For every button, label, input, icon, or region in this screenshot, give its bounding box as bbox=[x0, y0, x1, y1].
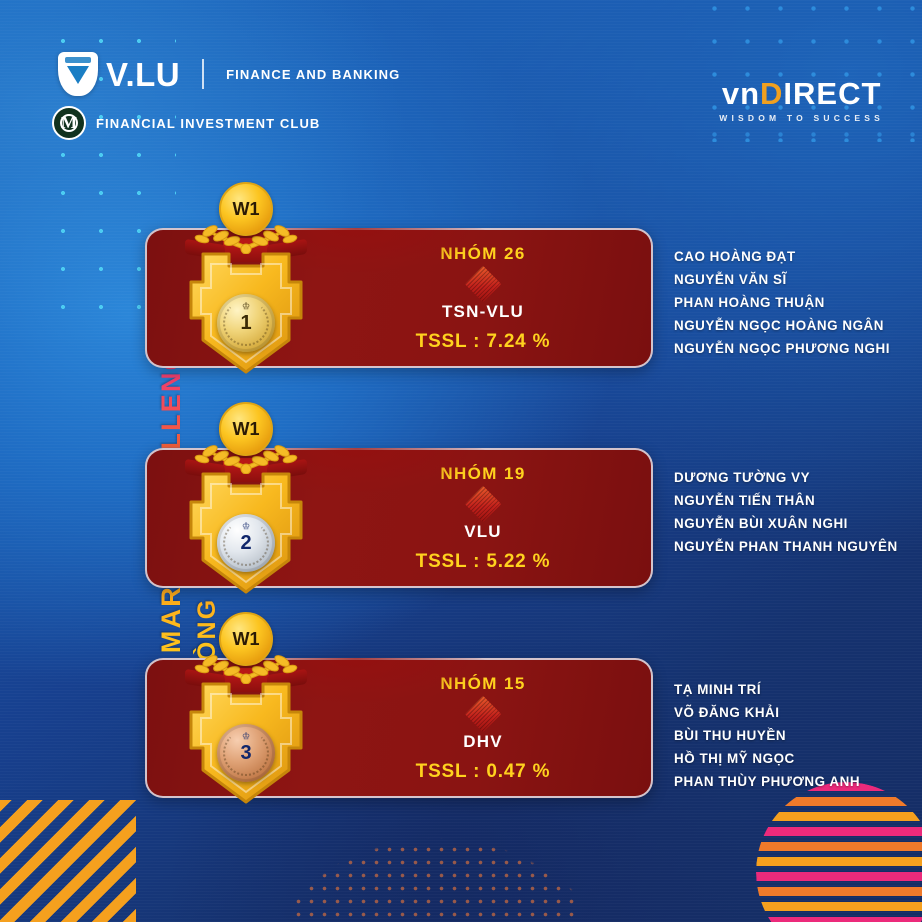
w1-coin-icon: W1 bbox=[219, 402, 273, 456]
disc-wreath-icon bbox=[223, 300, 269, 346]
vndirect-accent-letter: D bbox=[760, 76, 783, 111]
diamond-separator-icon bbox=[465, 696, 502, 733]
member-list-1: CAO HOÀNG ĐẠT NGUYỄN VĂN SĨ PHAN HOÀNG T… bbox=[674, 245, 922, 360]
vndirect-prefix: vn bbox=[722, 76, 760, 111]
list-item: PHAN HOÀNG THUẬN bbox=[674, 291, 922, 314]
list-item: NGUYỄN NGỌC HOÀNG NGÂN bbox=[674, 314, 922, 337]
w1-coin-icon: W1 bbox=[219, 612, 273, 666]
list-item: NGUYỄN PHAN THANH NGUYÊN bbox=[674, 535, 922, 558]
card-content: NHÓM 15 DHV TSSL : 0.47 % bbox=[327, 674, 639, 786]
rank-disc: ♔ 2 bbox=[217, 514, 275, 572]
medal-badge: W1 bbox=[171, 182, 321, 382]
page-header: V.LU FINANCE AND BANKING FINANCIAL INVES… bbox=[0, 0, 922, 150]
header-divider bbox=[202, 59, 204, 89]
vndirect-suffix: IRECT bbox=[783, 76, 881, 111]
fic-logo-icon bbox=[52, 106, 86, 140]
group-label: NHÓM 19 bbox=[440, 464, 525, 484]
vndirect-tagline: WISDOM TO SUCCESS bbox=[719, 113, 884, 123]
list-item: TẠ MINH TRÍ bbox=[674, 678, 922, 701]
card-panel: NHÓM 19 VLU TSSL : 5.22 % W1 bbox=[145, 448, 653, 588]
vlu-wordmark: V.LU bbox=[106, 58, 180, 91]
list-item: DƯƠNG TƯỜNG VY bbox=[674, 466, 922, 489]
list-item: NGUYỄN BÙI XUÂN NGHI bbox=[674, 512, 922, 535]
list-item: PHAN THÙY PHƯƠNG ANH bbox=[674, 770, 922, 793]
w1-coin-icon: W1 bbox=[219, 182, 273, 236]
diamond-separator-icon bbox=[465, 266, 502, 303]
medal-badge: W1 bbox=[171, 612, 321, 812]
fic-brand: FINANCIAL INVESTMENT CLUB bbox=[52, 106, 320, 140]
tssl-value: TSSL : 0.47 % bbox=[416, 761, 551, 783]
list-item: NGUYỄN VĂN SĨ bbox=[674, 268, 922, 291]
member-list-2: DƯƠNG TƯỜNG VY NGUYỄN TIẾN THÂN NGUYỄN B… bbox=[674, 466, 922, 558]
list-item: HỒ THỊ MỸ NGỌC bbox=[674, 747, 922, 770]
team-name: VLU bbox=[464, 522, 502, 542]
ranking-card-1[interactable]: NHÓM 26 TSN-VLU TSSL : 7.24 % W1 bbox=[145, 228, 653, 368]
vndirect-logo: vnDIRECT WISDOM TO SUCCESS bbox=[719, 78, 884, 123]
team-name: TSN-VLU bbox=[442, 302, 524, 322]
card-panel: NHÓM 26 TSN-VLU TSSL : 7.24 % W1 bbox=[145, 228, 653, 368]
list-item: VÕ ĐĂNG KHẢI bbox=[674, 701, 922, 724]
vndirect-wordmark: vnDIRECT bbox=[719, 78, 884, 109]
list-item: NGUYỄN TIẾN THÂN bbox=[674, 489, 922, 512]
diagonal-stripes-bottom-left-icon bbox=[0, 800, 136, 922]
ranking-card-3[interactable]: NHÓM 15 DHV TSSL : 0.47 % W1 bbox=[145, 658, 653, 798]
diamond-separator-icon bbox=[465, 486, 502, 523]
medal-badge: W1 bbox=[171, 402, 321, 602]
ranking-card-2[interactable]: NHÓM 19 VLU TSSL : 5.22 % W1 bbox=[145, 448, 653, 588]
list-item: CAO HOÀNG ĐẠT bbox=[674, 245, 922, 268]
faculty-label: FINANCE AND BANKING bbox=[226, 67, 400, 82]
vlu-brand: V.LU FINANCE AND BANKING bbox=[58, 52, 400, 96]
rank-disc: ♔ 3 bbox=[217, 724, 275, 782]
card-panel: NHÓM 15 DHV TSSL : 0.47 % W1 bbox=[145, 658, 653, 798]
tssl-value: TSSL : 5.22 % bbox=[416, 551, 551, 573]
club-label: FINANCIAL INVESTMENT CLUB bbox=[96, 116, 320, 131]
group-label: NHÓM 26 bbox=[440, 244, 525, 264]
card-content: NHÓM 26 TSN-VLU TSSL : 7.24 % bbox=[327, 244, 639, 356]
rank-disc: ♔ 1 bbox=[217, 294, 275, 352]
vlu-v-mark-icon bbox=[67, 66, 89, 84]
tssl-value: TSSL : 7.24 % bbox=[416, 331, 551, 353]
vlu-shield-icon bbox=[58, 52, 98, 96]
disc-wreath-icon bbox=[223, 520, 269, 566]
disc-wreath-icon bbox=[223, 730, 269, 776]
list-item: NGUYỄN NGỌC PHƯƠNG NGHI bbox=[674, 337, 922, 360]
card-content: NHÓM 19 VLU TSSL : 5.22 % bbox=[327, 464, 639, 576]
group-label: NHÓM 15 bbox=[440, 674, 525, 694]
list-item: BÙI THU HUYỀN bbox=[674, 724, 922, 747]
team-name: DHV bbox=[463, 732, 503, 752]
member-list-3: TẠ MINH TRÍ VÕ ĐĂNG KHẢI BÙI THU HUYỀN H… bbox=[674, 678, 922, 793]
